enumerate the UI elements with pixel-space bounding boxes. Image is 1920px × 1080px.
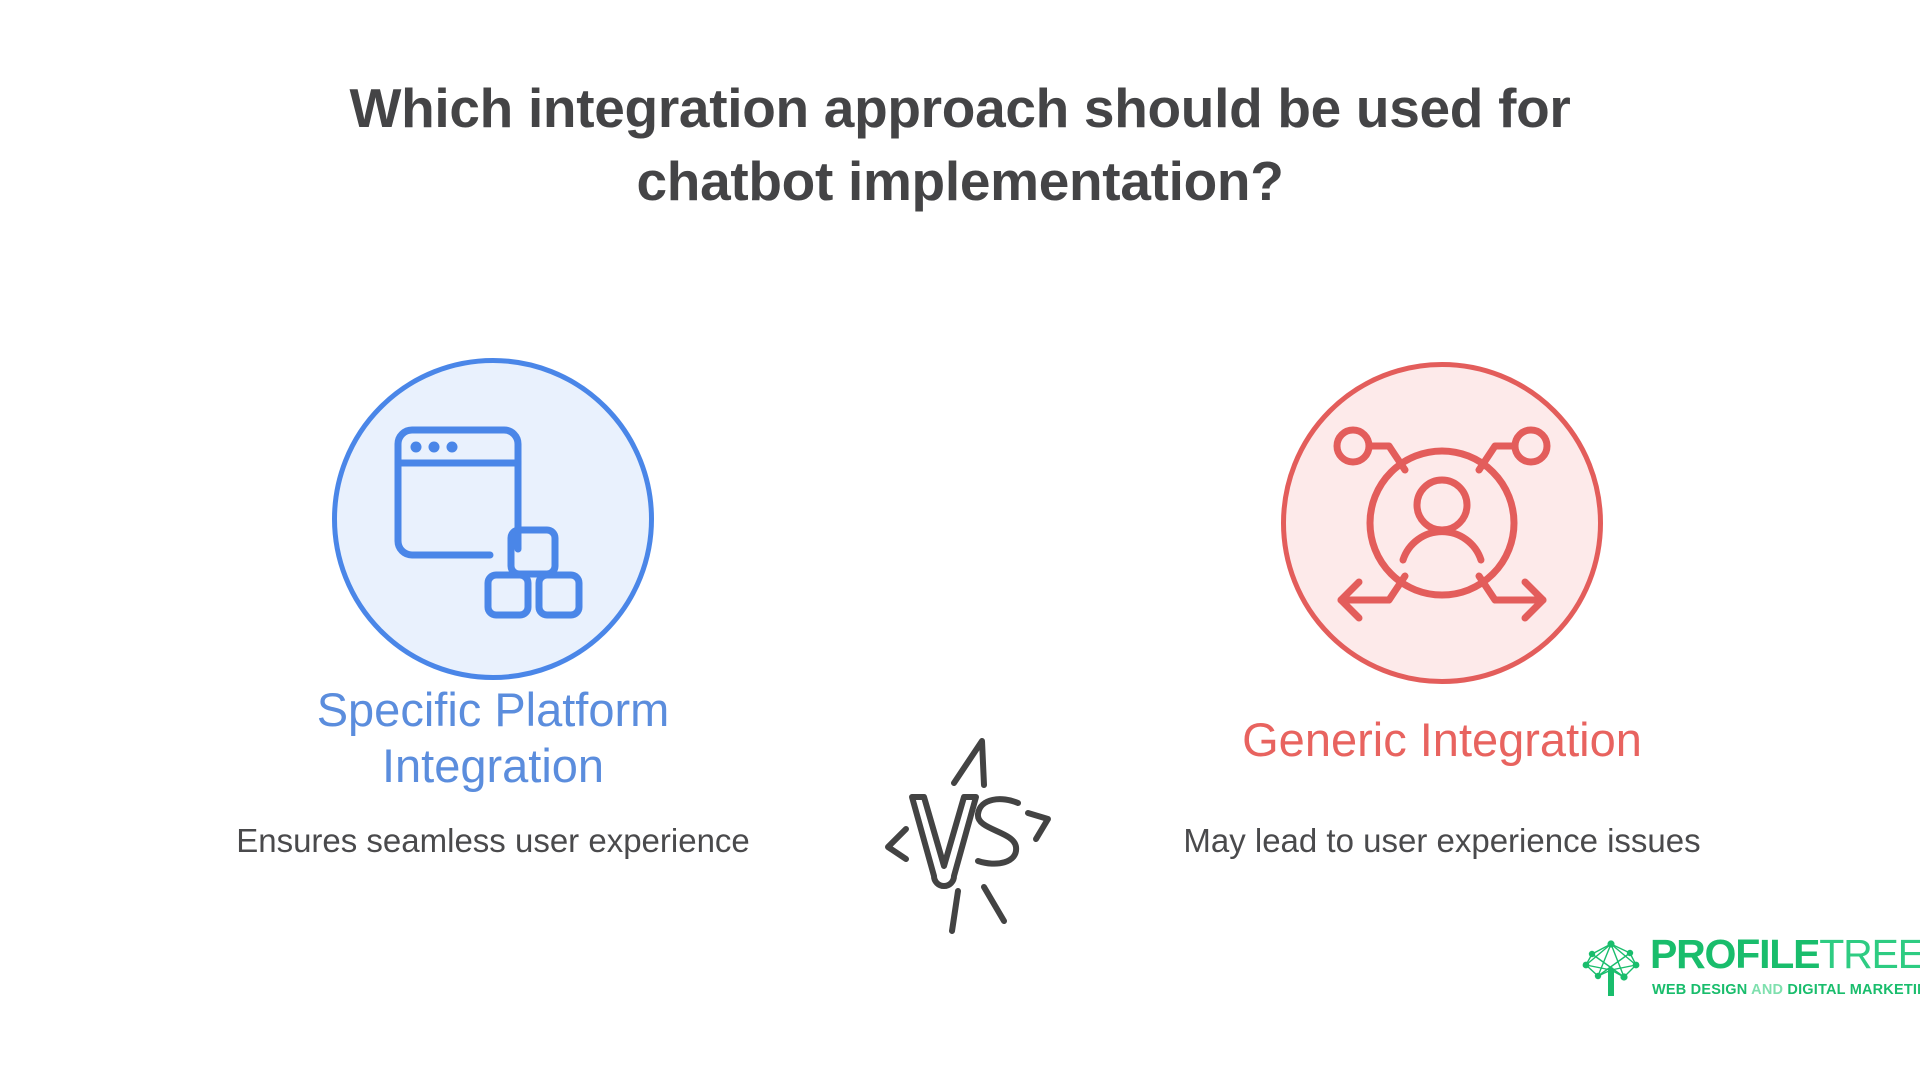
logo-tagline-part-2: AND <box>1751 982 1783 998</box>
logo-tagline-part-3: DIGITAL MARKETING <box>1787 982 1920 998</box>
option-title-line-1: Specific Platform <box>203 682 783 738</box>
option-generic-icon-circle <box>1281 362 1603 684</box>
window-dots-icon <box>411 442 458 453</box>
vs-spark-icon <box>876 735 1056 935</box>
option-specific-platform-description: Ensures seamless user experience <box>203 822 783 860</box>
logo-name-bold: PROFILE <box>1650 931 1819 977</box>
logo-name-light: TREE <box>1819 931 1920 977</box>
slide-canvas: Which integration approach should be use… <box>0 0 1920 1080</box>
option-specific-platform-icon-circle <box>332 358 654 680</box>
versus-badge <box>876 735 1056 935</box>
profiletree-logo: PROFILETREE WEB DESIGN AND DIGITAL MARKE… <box>1578 932 1888 1014</box>
option-specific-platform-label: Specific Platform Integration <box>203 682 783 795</box>
network-tree-icon <box>1578 932 1644 998</box>
option-generic-description: May lead to user experience issues <box>1181 822 1703 860</box>
user-network-arrows-icon <box>1327 408 1557 638</box>
option-title-line-2: Integration <box>203 738 783 794</box>
title-line-2: chatbot implementation? <box>160 145 1760 218</box>
option-title-line-1: Generic Integration <box>1181 712 1703 768</box>
option-generic-label: Generic Integration <box>1181 712 1703 768</box>
title-line-1: Which integration approach should be use… <box>160 72 1760 145</box>
logo-tagline-part-1: WEB DESIGN <box>1652 982 1747 998</box>
comparison-row <box>0 340 1920 720</box>
page-title: Which integration approach should be use… <box>160 72 1760 217</box>
browser-window-blocks-icon <box>378 404 608 634</box>
logo-tagline: WEB DESIGN AND DIGITAL MARKETING <box>1652 982 1920 998</box>
logo-wordmark: PROFILETREE <box>1650 934 1920 975</box>
blocks-icon <box>488 530 579 615</box>
